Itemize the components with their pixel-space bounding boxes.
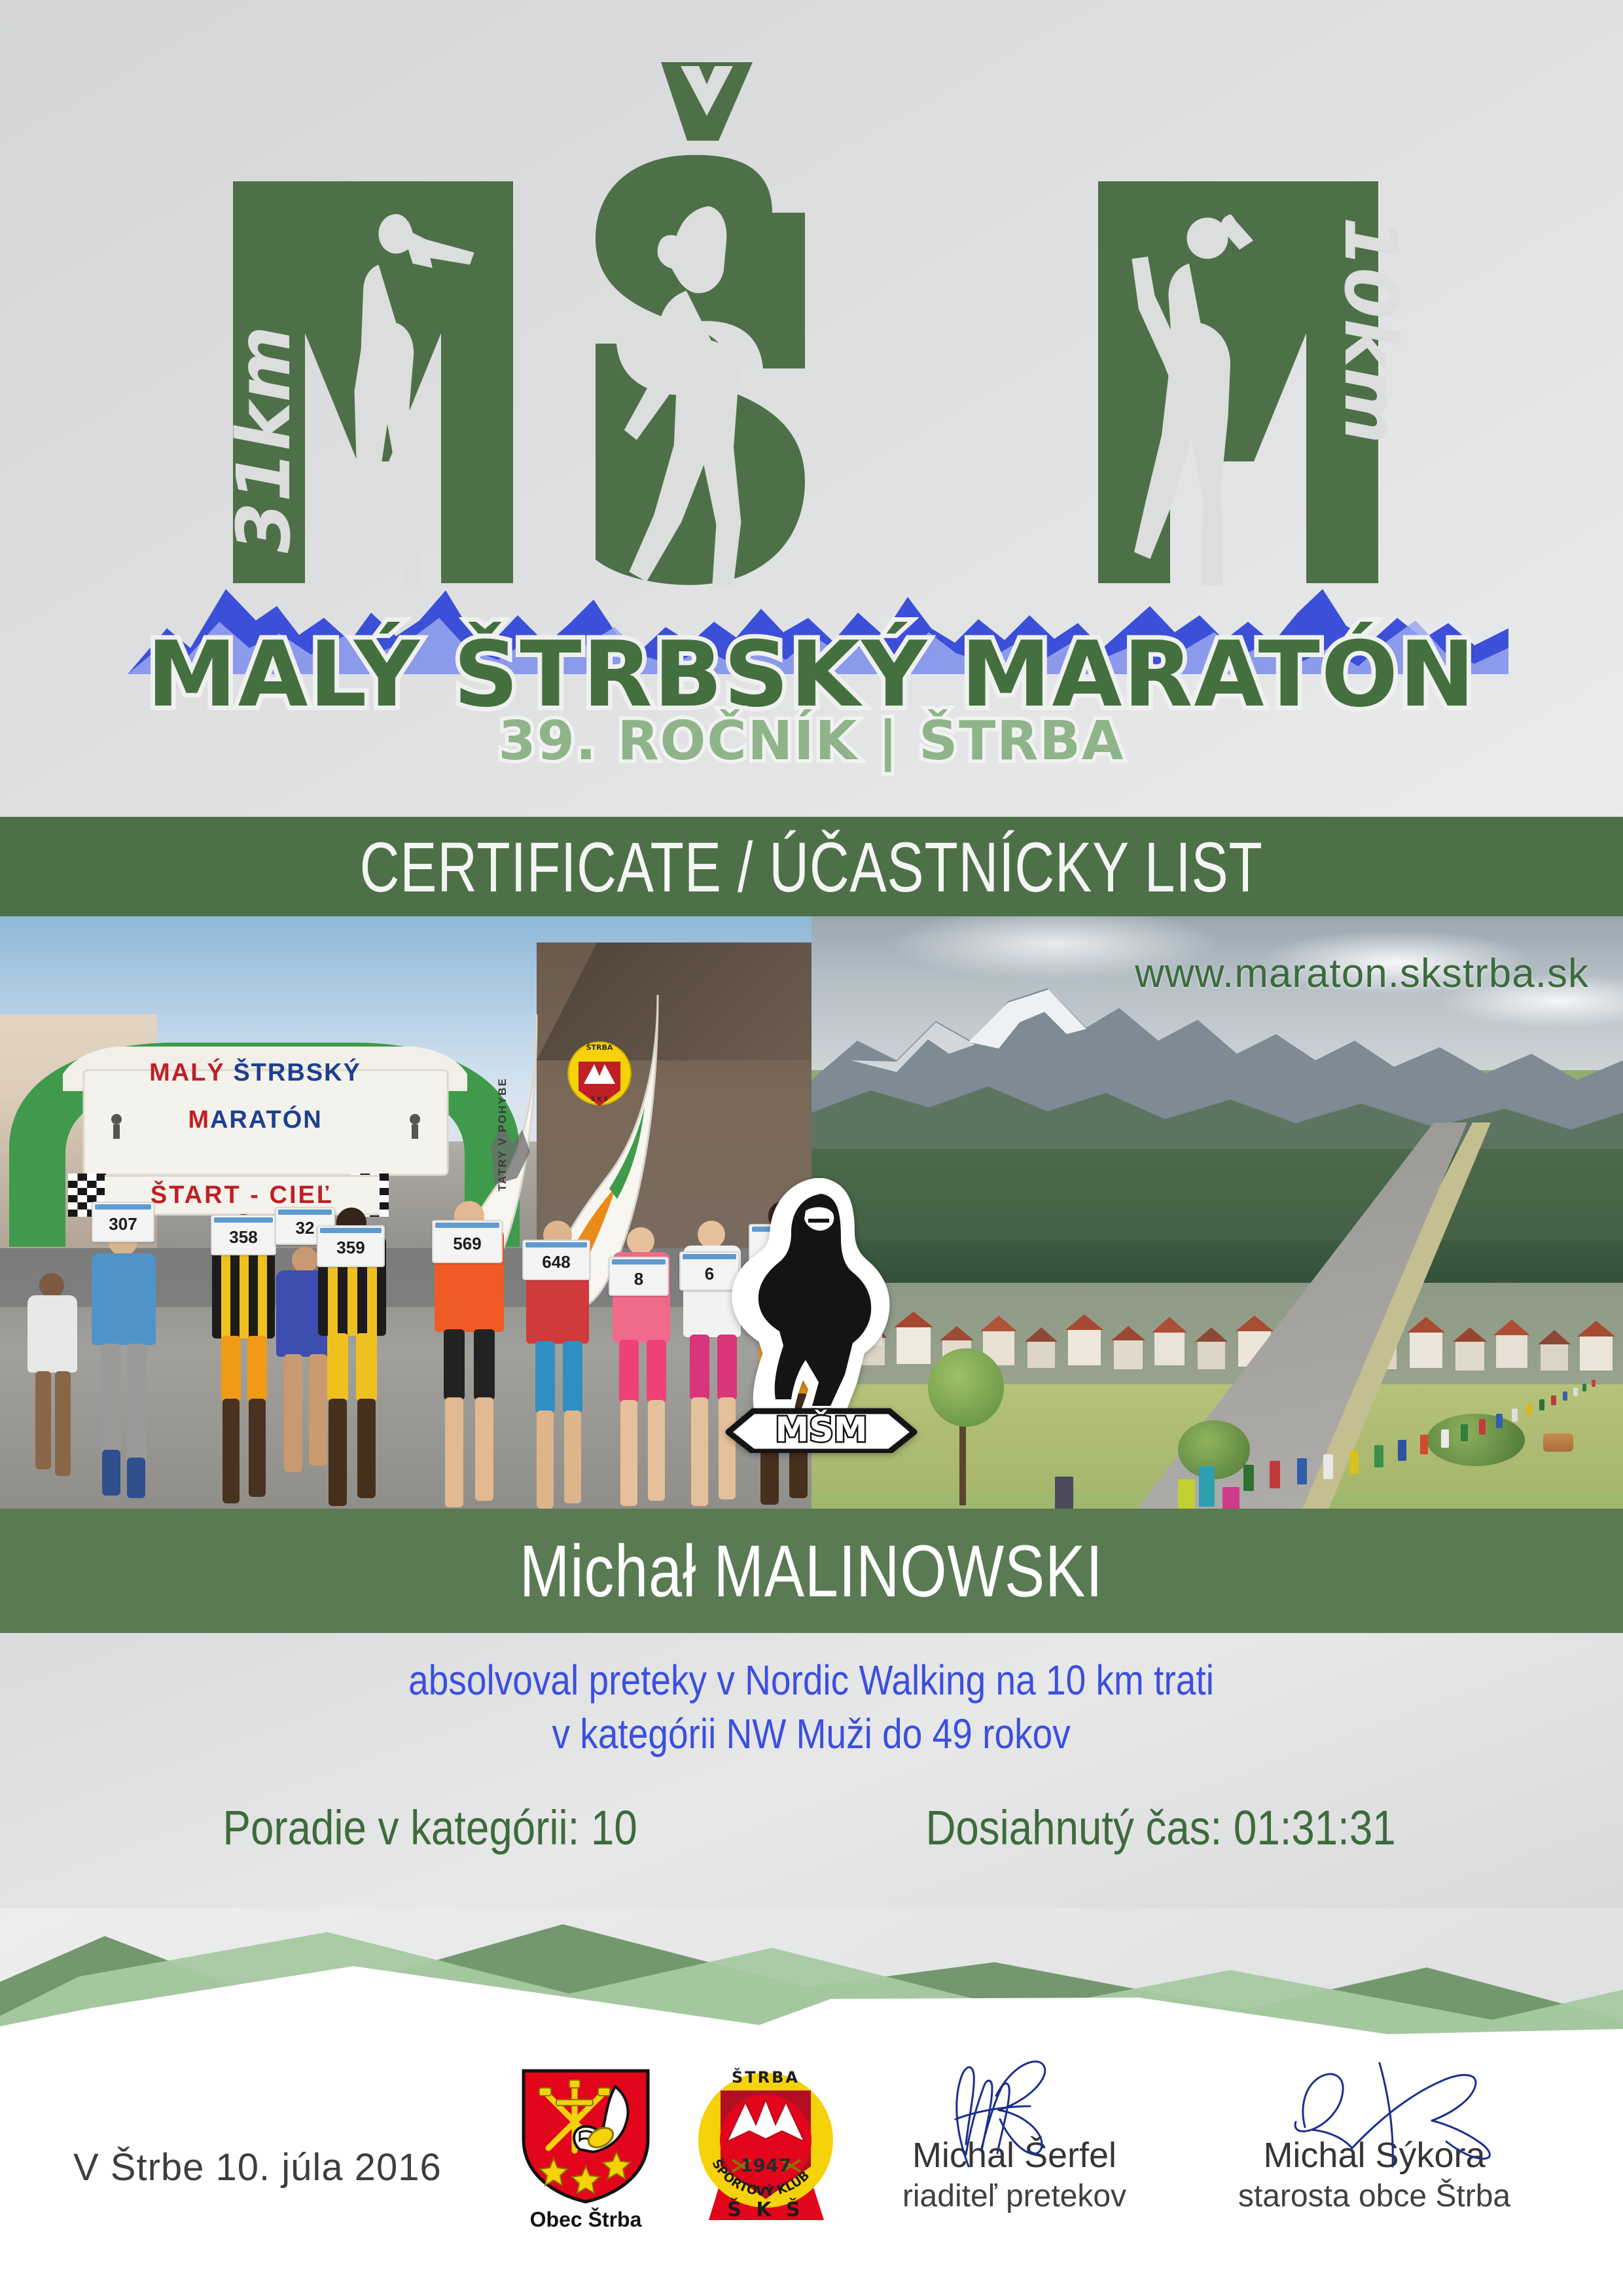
sks-year: 1947 [740,2155,791,2176]
arch-araton: ARATÓN [210,1106,323,1134]
category-rank: Poradie v kategórii: 10 [189,1800,671,1856]
obec-logo-caption: Obec Štrba [517,2208,654,2232]
sks-badge-top: ŠTRBA [586,1043,613,1052]
result-summary: Poradie v kategórii: 10 Dosiahnutý čas: … [0,1800,1623,1856]
sks-flag-badge: ŠTRBA Š K Š [564,1035,635,1119]
spectator [1055,1477,1073,1509]
certificate-banner: CERTIFICATE / ÚČASTNÍCKY LIST [0,817,1623,916]
signature-mark [844,2056,1185,2168]
msm-sticker-badge: MŠM [723,1178,919,1453]
achievement-line-2: v kategórii NW Muži do 49 rokov [0,1710,1623,1758]
finish-time: Dosiahnutý čas: 01:31:31 [887,1800,1434,1856]
roadside-tree [923,1348,1008,1505]
msm-letters-graphic: 31km [229,56,1400,586]
photo-landscape: www.maraton.skstrba.sk [811,916,1623,1509]
event-title: MALÝ ŠTRBSKÝ MARATÓN [0,630,1623,720]
participant-name: Michał MALINOWSKI [520,1529,1103,1613]
header-logo-area: 31km [0,0,1623,815]
sks-bottom-label: Š K Š [727,2197,804,2221]
foreground-runner [1199,1466,1215,1507]
arch-strbsky: ŠTRBSKÝ [233,1059,361,1086]
arch-text-line2: MARATÓN [111,1106,399,1134]
runner-figure [77,1227,169,1509]
distance-left-label: 31km [229,326,307,553]
signatory-role: starosta obce Štrba [1204,2178,1544,2214]
arch-text-line1: MALÝ ŠTRBSKÝ [111,1059,399,1087]
bib-number: 8 [609,1257,669,1296]
sks-club-logo: 1947 ŠTRBA Š K Š ŠPORTOVÝ KLUB [696,2062,836,2225]
bib-number: 648 [522,1240,590,1280]
certificate-title: CERTIFICATE / ÚČASTNÍCKY LIST [360,826,1263,908]
distance-right-label: 10km [1328,217,1400,444]
forest-belt [811,1149,1623,1299]
bib-number: 359 [317,1225,385,1267]
signature-mark [1204,2056,1544,2168]
issue-date: V Štrbe 10. júla 2016 [73,2145,442,2189]
participant-name-banner: Michał MALINOWSKI [0,1509,1623,1633]
sks-top-label: ŠTRBA [732,2067,800,2087]
achievement-line-1: absolvoval preteky v Nordic Walking na 1… [0,1656,1623,1704]
bib-number: 307 [92,1202,154,1242]
obec-strba-logo: Obec Štrba [517,2067,654,2244]
cow [1543,1433,1573,1452]
certificate-page: 31km [0,0,1623,2296]
msm-logo: 31km [0,0,1623,815]
runner-pack: 307 358 32 [0,1141,811,1509]
event-subtitle: 39. ROČNÍK | ŠTRBA [0,710,1623,772]
photo-race-start: MALÝ ŠTRBSKÝ MARATÓN ŠTART - CIEĽ TATRY … [0,916,811,1509]
arch-maly: MALÝ [149,1059,225,1086]
bib-number: 569 [432,1220,503,1263]
foreground-runner [1178,1479,1195,1509]
foreground-runner [1222,1487,1240,1509]
signatory-role: riaditeľ pretekov [844,2178,1185,2214]
arch-m: M [188,1106,210,1134]
msm-sticker-label: MŠM [776,1409,868,1450]
signature-block-mayor: Michal Sýkora starosta obce Štrba [1204,2135,1544,2214]
signature-block-director: Michal Šerfel riaditeľ pretekov [844,2135,1185,2214]
sks-badge-bottom: Š K Š [591,1095,608,1103]
website-url: www.maraton.skstrba.sk [1135,950,1589,997]
